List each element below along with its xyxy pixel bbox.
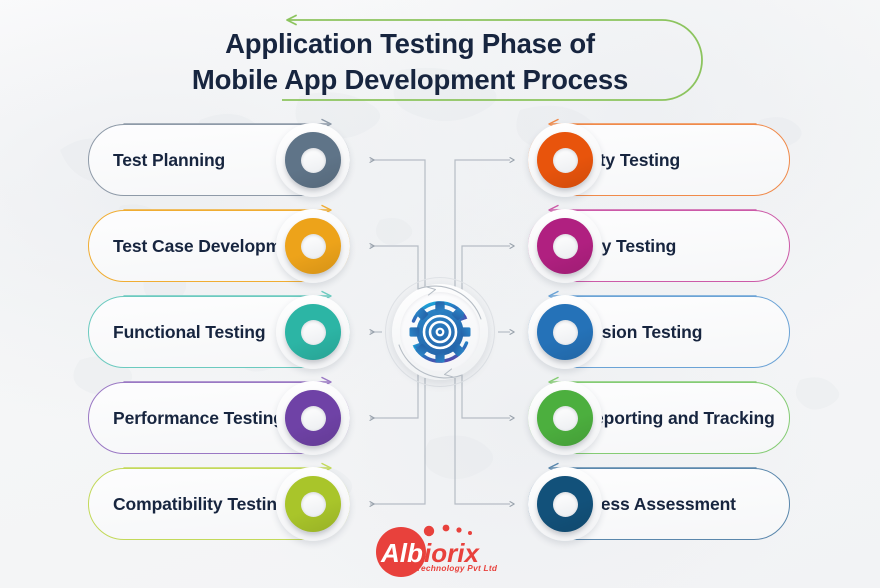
donut-ring bbox=[285, 132, 341, 188]
central-hub bbox=[385, 277, 495, 387]
donut-hole bbox=[553, 492, 578, 517]
card-label-line-1: Test Case bbox=[113, 236, 193, 256]
card-label: Test Planning bbox=[113, 149, 225, 171]
donut-icon bbox=[276, 467, 350, 541]
card-label-line-1: Test Planning bbox=[113, 150, 225, 170]
donut-icon bbox=[276, 295, 350, 369]
donut-icon bbox=[528, 123, 602, 197]
donut-hole bbox=[301, 148, 326, 173]
donut-ring bbox=[537, 390, 593, 446]
donut-hole bbox=[553, 320, 578, 345]
gear-cycle-icon bbox=[385, 277, 495, 387]
donut-ring bbox=[285, 390, 341, 446]
donut-hole bbox=[301, 406, 326, 431]
card-regression-testing[interactable]: Regression Testing bbox=[528, 296, 790, 368]
card-security-testing[interactable]: Security Testing bbox=[528, 210, 790, 282]
card-compatibility-testing[interactable]: Compatibility Testing bbox=[88, 468, 350, 540]
card-label-line-2: Testing bbox=[620, 150, 680, 170]
donut-ring bbox=[537, 476, 593, 532]
card-functional-testing[interactable]: Functional Testing bbox=[88, 296, 350, 368]
card-test-planning[interactable]: Test Planning bbox=[88, 124, 350, 196]
card-label: Performance Testing bbox=[113, 407, 284, 429]
donut-ring bbox=[285, 476, 341, 532]
donut-ring bbox=[285, 304, 341, 360]
card-readiness-assessment[interactable]: Readiness Assessment bbox=[528, 468, 790, 540]
donut-hole bbox=[301, 320, 326, 345]
title-block: Application Testing Phase of Mobile App … bbox=[150, 14, 710, 106]
donut-icon bbox=[528, 467, 602, 541]
card-performance-testing[interactable]: Performance Testing bbox=[88, 382, 350, 454]
card-test-case-development[interactable]: Test Case Development bbox=[88, 210, 350, 282]
card-label-line-2: Testing bbox=[224, 408, 284, 428]
card-label: Compatibility Testing bbox=[113, 493, 288, 515]
card-label-line-2: Testing bbox=[205, 322, 265, 342]
card-label-line-2: Assessment bbox=[634, 494, 736, 514]
page-title: Application Testing Phase of Mobile App … bbox=[150, 26, 670, 99]
card-label-line-2: Testing bbox=[642, 322, 702, 342]
title-line-1: Application Testing Phase of bbox=[150, 26, 670, 62]
card-label-line-1: Compatibility bbox=[113, 494, 223, 514]
donut-icon bbox=[528, 295, 602, 369]
donut-icon bbox=[528, 209, 602, 283]
donut-ring bbox=[537, 218, 593, 274]
logo-dot-1 bbox=[424, 526, 434, 536]
card-label-line-1: Functional bbox=[113, 322, 200, 342]
infographic-canvas: Application Testing Phase of Mobile App … bbox=[0, 0, 880, 588]
donut-ring bbox=[537, 132, 593, 188]
donut-icon bbox=[276, 123, 350, 197]
logo-dot-4 bbox=[468, 531, 472, 535]
donut-hole bbox=[301, 234, 326, 259]
card-label: Functional Testing bbox=[113, 321, 265, 343]
card-bug-reporting-and-tracking[interactable]: Bug Reporting and Tracking bbox=[528, 382, 790, 454]
donut-icon bbox=[276, 209, 350, 283]
card-usability-testing[interactable]: Usability Testing bbox=[528, 124, 790, 196]
logo-dot-2 bbox=[443, 525, 450, 532]
title-line-2: Mobile App Development Process bbox=[150, 62, 670, 98]
donut-hole bbox=[553, 148, 578, 173]
donut-ring bbox=[537, 304, 593, 360]
logo-dot-3 bbox=[456, 527, 461, 532]
donut-icon bbox=[528, 381, 602, 455]
company-logo: Alb iorix Technology Pvt Ltd bbox=[368, 524, 508, 580]
donut-ring bbox=[285, 218, 341, 274]
donut-icon bbox=[276, 381, 350, 455]
logo-tagline: Technology Pvt Ltd bbox=[416, 563, 497, 573]
card-label-line-1: Performance bbox=[113, 408, 219, 428]
donut-hole bbox=[553, 406, 578, 431]
donut-hole bbox=[301, 492, 326, 517]
donut-hole bbox=[553, 234, 578, 259]
card-label-line-2: and Tracking bbox=[668, 408, 775, 428]
